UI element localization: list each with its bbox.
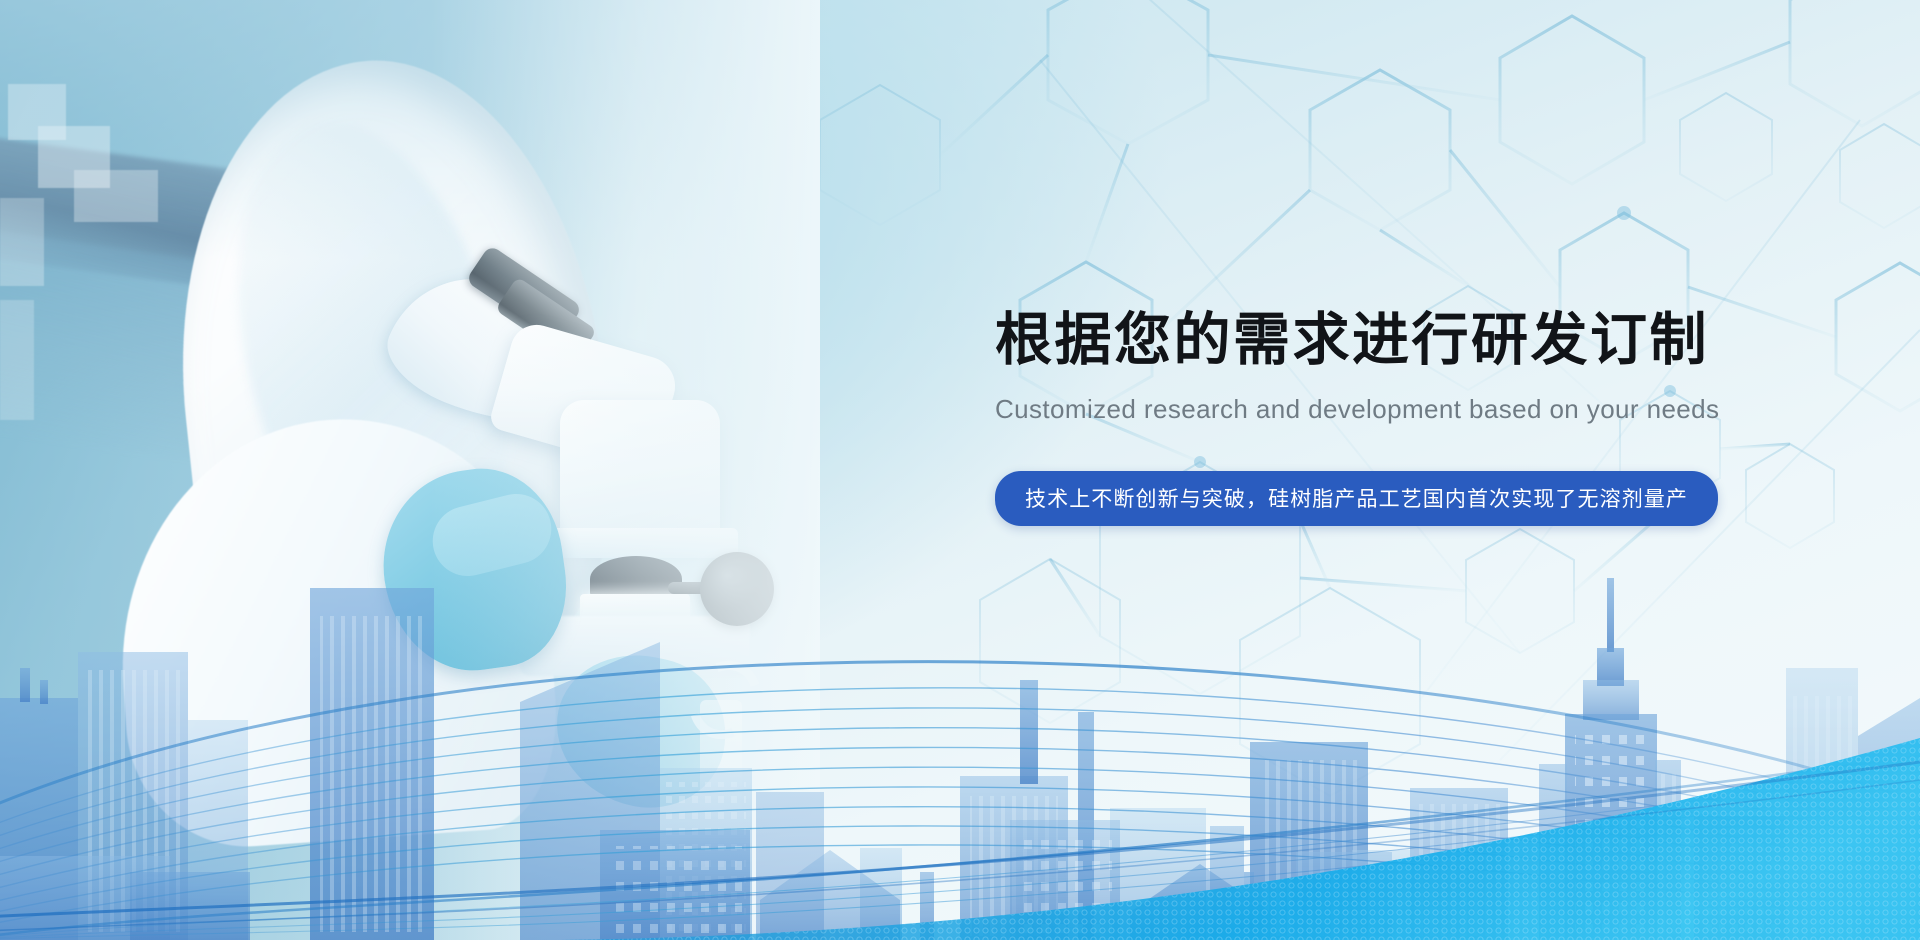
tagline-badge: 技术上不断创新与突破，硅树脂产品工艺国内首次实现了无溶剂量产 <box>995 471 1718 526</box>
hero-banner: 根据您的需求进行研发订制 Customized research and dev… <box>0 0 1920 940</box>
decor-square-5 <box>0 300 34 420</box>
page-subtitle: Customized research and development base… <box>995 394 1755 425</box>
page-title: 根据您的需求进行研发订制 <box>995 310 1755 372</box>
cyan-wave-swoosh <box>0 710 1920 940</box>
hero-text-block: 根据您的需求进行研发订制 Customized research and dev… <box>995 310 1755 526</box>
